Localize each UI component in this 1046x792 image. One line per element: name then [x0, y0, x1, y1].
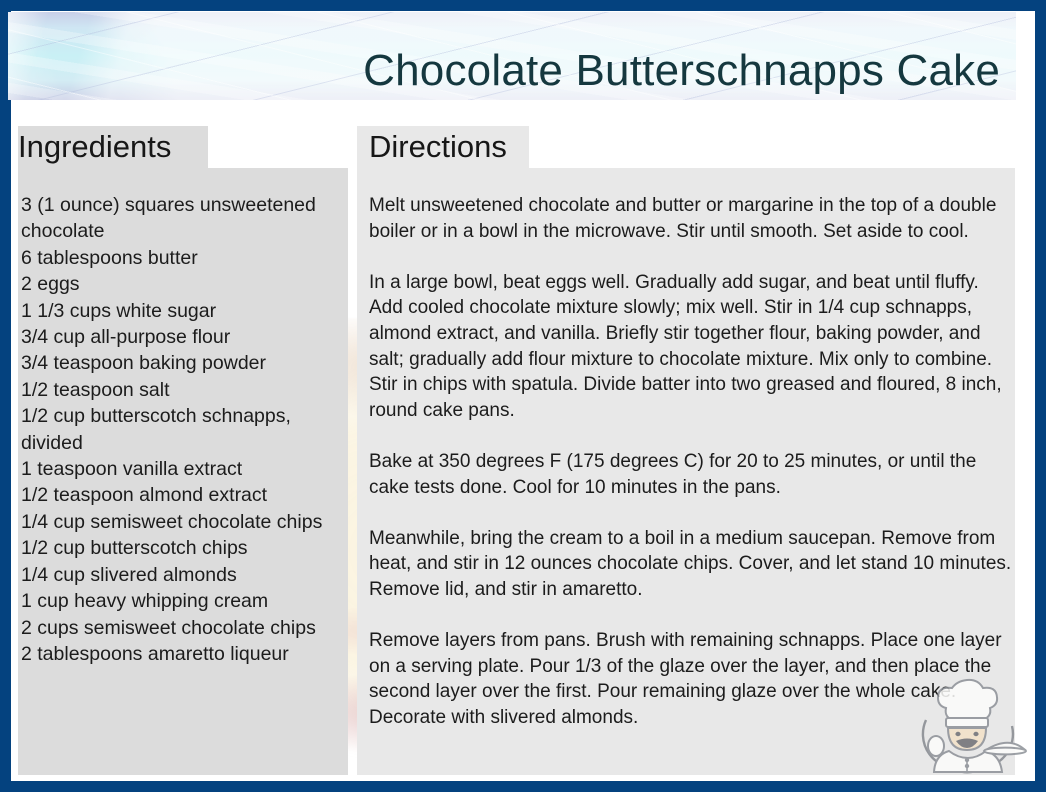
recipe-card: Chocolate Butterschnapps Cake Ingredient… — [0, 0, 1046, 792]
ingredient-item: 2 eggs — [21, 271, 353, 297]
direction-paragraph: Melt unsweetened chocolate and butter or… — [369, 193, 1013, 244]
direction-paragraph: Bake at 350 degrees F (175 degrees C) fo… — [369, 449, 1013, 500]
direction-paragraph: Remove layers from pans. Brush with rema… — [369, 628, 1013, 730]
ingredient-item: 1 1/3 cups white sugar — [21, 298, 353, 324]
ingredient-item: 3/4 cup all-purpose flour — [21, 324, 353, 350]
ingredients-heading: Ingredients — [18, 126, 171, 168]
ingredient-item: 3/4 teaspoon baking powder — [21, 350, 353, 376]
page-title: Chocolate Butterschnapps Cake — [363, 48, 1000, 94]
ingredient-item: 2 tablespoons amaretto liqueur — [21, 641, 353, 667]
direction-paragraph: Meanwhile, bring the cream to a boil in … — [369, 526, 1013, 603]
ingredient-item: 1/4 cup semisweet chocolate chips — [21, 509, 353, 535]
title-banner: Chocolate Butterschnapps Cake — [8, 12, 1016, 100]
ingredient-item: 1 cup heavy whipping cream — [21, 588, 353, 614]
ingredient-item: 1/4 cup slivered almonds — [21, 562, 353, 588]
ingredient-item: 6 tablespoons butter — [21, 245, 353, 271]
ingredient-item: 1/2 teaspoon salt — [21, 377, 353, 403]
ingredient-item: 1/2 cup butterscotch chips — [21, 535, 353, 561]
direction-paragraph: In a large bowl, beat eggs well. Gradual… — [369, 270, 1013, 424]
ingredient-item: 1/2 cup butterscotch schnapps, divided — [21, 403, 353, 456]
ingredients-list: 3 (1 ounce) squares unsweetened chocolat… — [21, 192, 353, 667]
ingredient-item: 2 cups semisweet chocolate chips — [21, 615, 353, 641]
ingredient-item: 1/2 teaspoon almond extract — [21, 482, 353, 508]
ingredient-item: 1 teaspoon vanilla extract — [21, 456, 353, 482]
directions-heading: Directions — [369, 126, 507, 168]
ingredient-item: 3 (1 ounce) squares unsweetened chocolat… — [21, 192, 353, 245]
directions-text: Melt unsweetened chocolate and butter or… — [369, 193, 1013, 730]
